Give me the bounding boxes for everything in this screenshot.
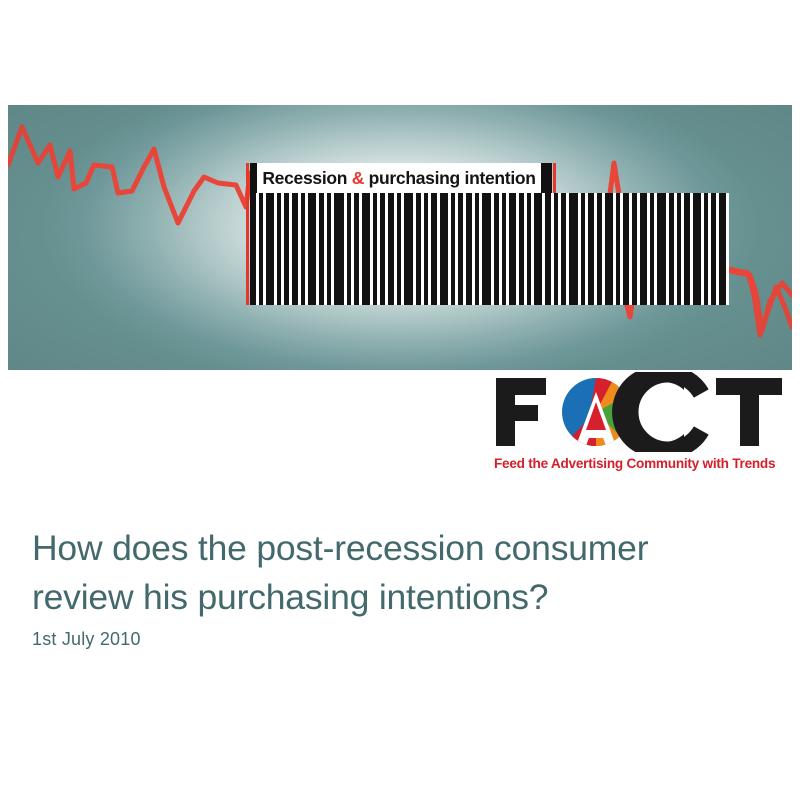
barcode-cap-bar-left <box>250 163 257 193</box>
barcode-bar <box>509 193 516 305</box>
page-title: How does the post-recession consumer rev… <box>32 524 752 622</box>
banner-title-ampersand: & <box>352 168 364 188</box>
logo-letter-f <box>496 378 546 446</box>
barcode-bar <box>404 193 413 305</box>
barcode-bar <box>569 193 578 305</box>
barcode-bar <box>334 193 344 305</box>
barcode-cap-bar-right-thin <box>548 163 552 193</box>
banner-title: Recession & purchasing intention <box>257 168 541 189</box>
presentation-slide: Recession & purchasing intention <box>0 0 800 800</box>
barcode-label-row: Recession & purchasing intention <box>250 163 552 193</box>
logo-letter-t <box>716 378 782 446</box>
barcode-bar <box>657 193 666 305</box>
barcode-bar <box>719 193 726 305</box>
barcode-bar <box>362 193 370 305</box>
barcode-bar <box>693 193 701 305</box>
barcode-left-edge <box>246 163 249 305</box>
barcode-cap-bar-right <box>541 163 548 193</box>
barcode-bars <box>250 193 552 305</box>
fact-logo: Feed the Advertising Community with Tren… <box>492 372 792 478</box>
page-title-line-2: review his purchasing intentions? <box>32 573 752 622</box>
barcode-gap <box>726 193 729 305</box>
barcode-bar <box>482 193 491 305</box>
logo-letter-c <box>612 372 722 452</box>
barcode-bar <box>266 193 274 305</box>
page-title-line-1: How does the post-recession consumer <box>32 524 752 573</box>
barcode-bar <box>308 193 316 305</box>
barcode-bar <box>440 193 448 305</box>
barcode-graphic: Recession & purchasing intention <box>246 163 556 305</box>
fact-logo-tagline: Feed the Advertising Community with Tren… <box>494 456 792 471</box>
barcode-bar <box>534 193 542 305</box>
barcode-bar <box>640 193 647 305</box>
fact-logo-mark <box>492 372 792 452</box>
slide-date: 1st July 2010 <box>32 629 141 650</box>
banner-title-suffix: purchasing intention <box>364 168 536 188</box>
barcode-bar <box>605 193 613 305</box>
fact-wordmark-svg <box>492 372 792 452</box>
banner-title-prefix: Recession <box>262 168 351 188</box>
